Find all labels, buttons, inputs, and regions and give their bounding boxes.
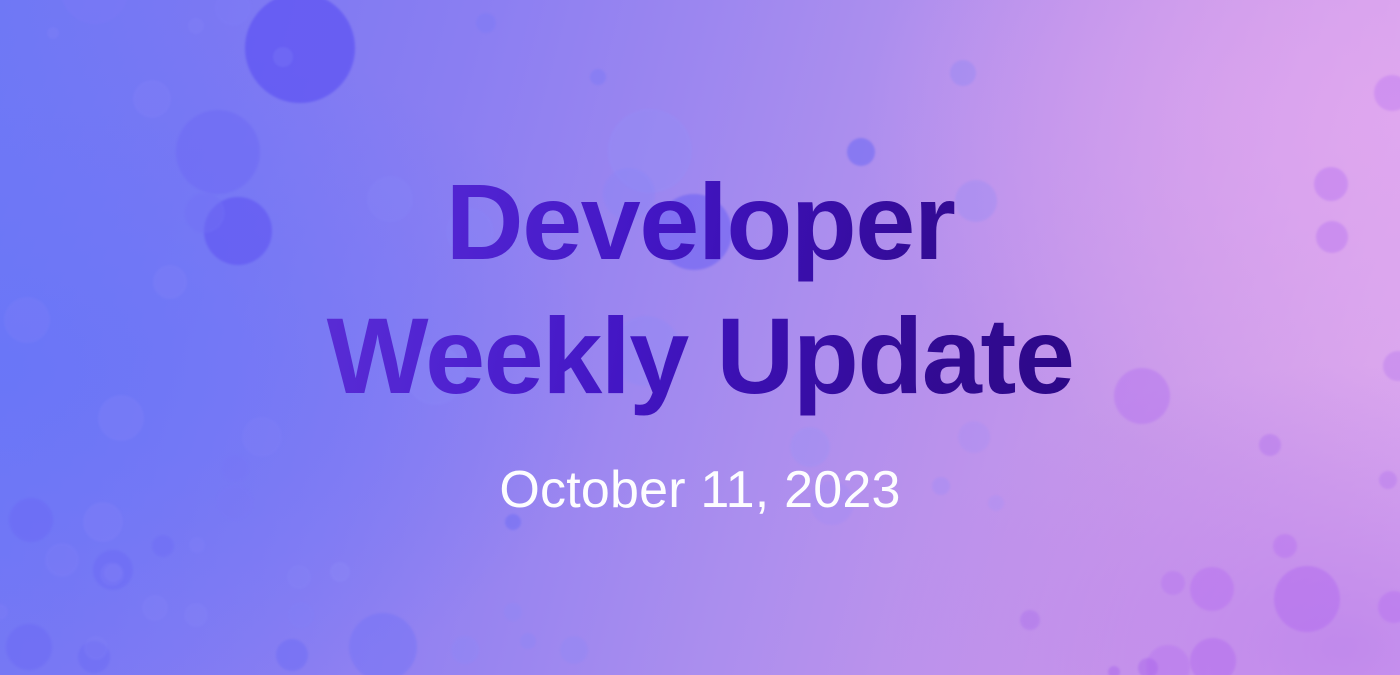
page-title-line-2: Weekly Update <box>327 289 1074 423</box>
issue-date: October 11, 2023 <box>499 460 900 520</box>
page-title: Developer Weekly Update <box>317 155 1084 423</box>
page-title-line-1: Developer <box>327 155 1074 289</box>
developer-weekly-update-banner: Developer Weekly Update October 11, 2023 <box>0 0 1400 675</box>
banner-content: Developer Weekly Update October 11, 2023 <box>0 0 1400 675</box>
